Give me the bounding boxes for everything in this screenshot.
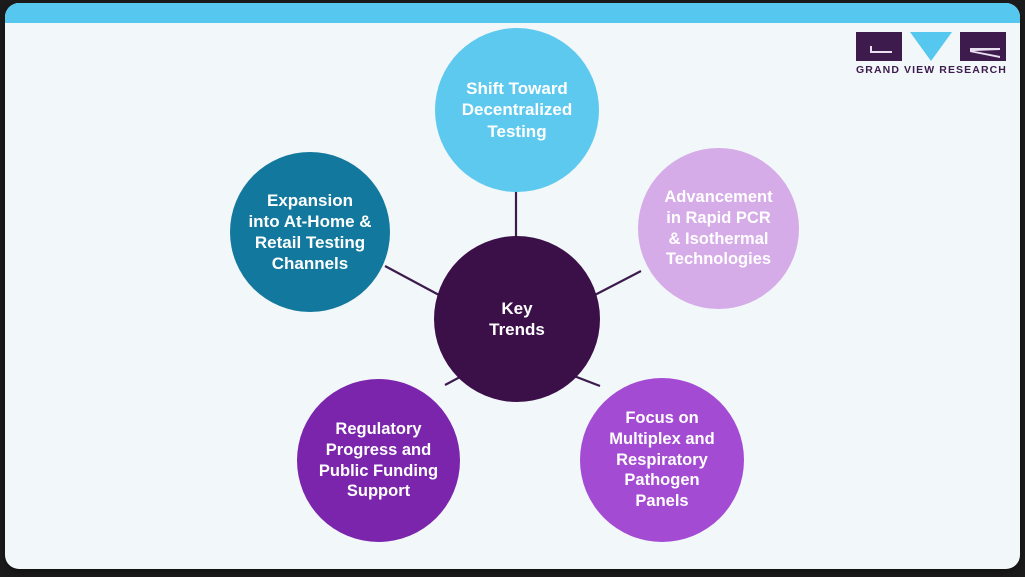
content-card: GRAND VIEW RESEARCH Shift Toward Decentr… bbox=[5, 3, 1020, 569]
node-key-trends-center[interactable]: Key Trends bbox=[434, 236, 600, 402]
node-shift-toward-decentralized-testing[interactable]: Shift Toward Decentralized Testing bbox=[435, 28, 599, 192]
logo-wordmark: GRAND VIEW RESEARCH bbox=[856, 64, 1006, 76]
node-focus-on-multiplex-panels[interactable]: Focus on Multiplex and Respiratory Patho… bbox=[580, 378, 744, 542]
logo-mark-icon bbox=[856, 30, 1006, 63]
node-label: Advancement in Rapid PCR & Isothermal Te… bbox=[656, 187, 780, 270]
node-regulatory-progress-public-funding[interactable]: Regulatory Progress and Public Funding S… bbox=[297, 379, 460, 542]
node-expansion-into-at-home-retail[interactable]: Expansion into At-Home & Retail Testing … bbox=[230, 152, 390, 312]
node-advancement-in-rapid-pcr[interactable]: Advancement in Rapid PCR & Isothermal Te… bbox=[638, 148, 799, 309]
node-label: Regulatory Progress and Public Funding S… bbox=[311, 419, 446, 502]
node-label: Key Trends bbox=[481, 298, 553, 341]
top-accent-bar bbox=[5, 3, 1020, 23]
grand-view-research-logo: GRAND VIEW RESEARCH bbox=[856, 30, 1006, 81]
node-label: Expansion into At-Home & Retail Testing … bbox=[240, 190, 379, 275]
diagram-canvas: GRAND VIEW RESEARCH Shift Toward Decentr… bbox=[0, 0, 1025, 577]
node-label: Shift Toward Decentralized Testing bbox=[454, 78, 581, 142]
node-label: Focus on Multiplex and Respiratory Patho… bbox=[601, 408, 722, 511]
